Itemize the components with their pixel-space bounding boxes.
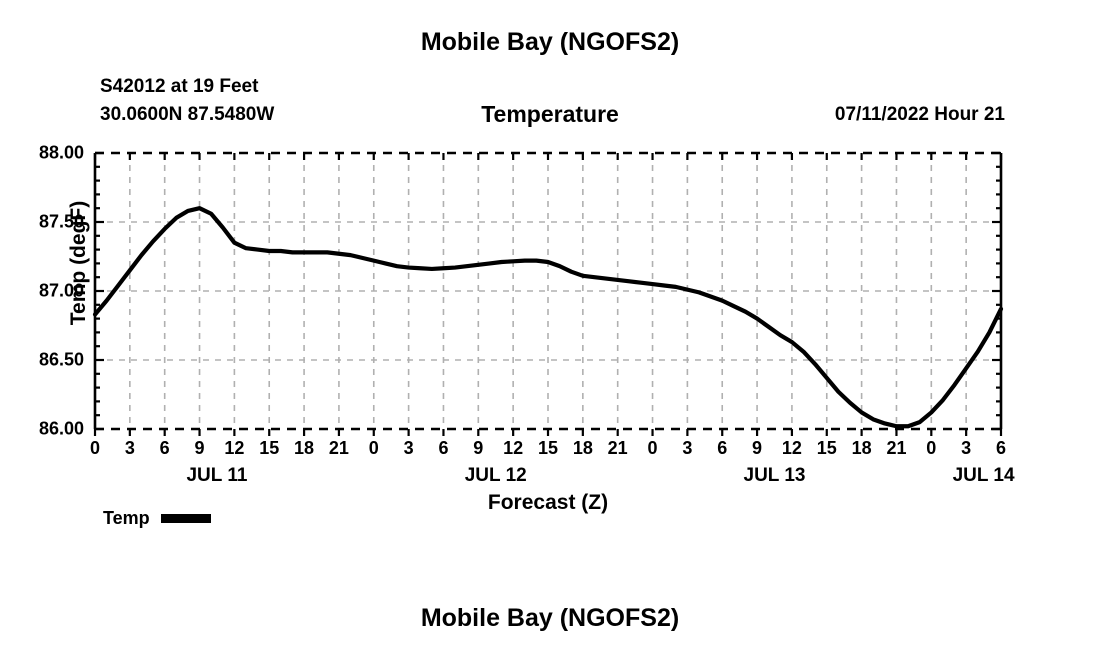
x-tick-label: 6 bbox=[996, 438, 1006, 459]
x-tick-label: 9 bbox=[473, 438, 483, 459]
x-tick-label: 21 bbox=[608, 438, 628, 459]
x-tick-label: 3 bbox=[961, 438, 971, 459]
x-tick-label: 0 bbox=[926, 438, 936, 459]
gridlines bbox=[95, 153, 1001, 429]
x-tick-label: 0 bbox=[90, 438, 100, 459]
x-tick-label: 12 bbox=[782, 438, 802, 459]
chart-plot-area: Temp (degF) 88.0087.5087.0086.5086.00 03… bbox=[95, 153, 1001, 429]
x-axis-day-label: JUL 13 bbox=[744, 465, 806, 487]
chart-canvas bbox=[95, 153, 1001, 429]
x-tick-label: 12 bbox=[224, 438, 244, 459]
x-tick-label: 12 bbox=[503, 438, 523, 459]
x-tick-label: 6 bbox=[438, 438, 448, 459]
chart-legend: Temp bbox=[103, 508, 211, 529]
y-tick-label: 87.50 bbox=[39, 212, 84, 233]
legend-label-temp: Temp bbox=[103, 508, 150, 529]
x-tick-label: 9 bbox=[752, 438, 762, 459]
y-tick-label: 87.00 bbox=[39, 281, 84, 302]
x-tick-label: 3 bbox=[404, 438, 414, 459]
model-run-label: 07/11/2022 Hour 21 bbox=[835, 104, 1005, 126]
x-axis-title: Forecast (Z) bbox=[95, 491, 1001, 515]
x-tick-label: 21 bbox=[886, 438, 906, 459]
x-tick-label: 3 bbox=[125, 438, 135, 459]
page-title-bottom: Mobile Bay (NGOFS2) bbox=[0, 604, 1100, 633]
x-tick-label: 0 bbox=[369, 438, 379, 459]
y-tick-label: 88.00 bbox=[39, 143, 84, 164]
x-tick-label: 15 bbox=[538, 438, 558, 459]
x-tick-label: 6 bbox=[160, 438, 170, 459]
x-tick-label: 15 bbox=[817, 438, 837, 459]
x-tick-label: 6 bbox=[717, 438, 727, 459]
x-tick-label: 0 bbox=[648, 438, 658, 459]
x-tick-label: 3 bbox=[682, 438, 692, 459]
x-axis-day-label: JUL 14 bbox=[953, 465, 1015, 487]
x-axis-day-label: JUL 12 bbox=[465, 465, 527, 487]
legend-swatch-temp bbox=[161, 514, 211, 523]
x-tick-label: 15 bbox=[259, 438, 279, 459]
x-tick-label: 9 bbox=[195, 438, 205, 459]
x-tick-label: 21 bbox=[329, 438, 349, 459]
y-tick-label: 86.50 bbox=[39, 350, 84, 371]
x-tick-label: 18 bbox=[294, 438, 314, 459]
y-tick-label: 86.00 bbox=[39, 419, 84, 440]
x-tick-label: 18 bbox=[852, 438, 872, 459]
station-id-label: S42012 at 19 Feet bbox=[100, 76, 258, 98]
x-tick-label: 18 bbox=[573, 438, 593, 459]
y-axis-title: Temp (degF) bbox=[67, 163, 91, 363]
page-title-top: Mobile Bay (NGOFS2) bbox=[0, 28, 1100, 57]
x-axis-day-label: JUL 11 bbox=[186, 465, 247, 487]
